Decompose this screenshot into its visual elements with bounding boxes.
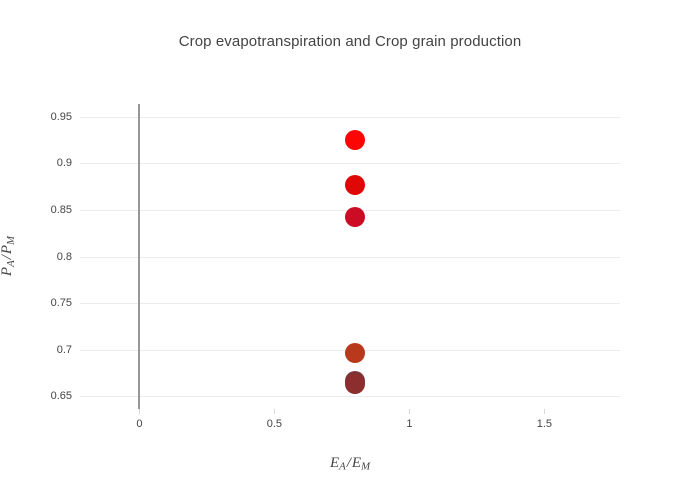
y-axis-title: PA/PM (0, 236, 17, 276)
x-axis-tick-label: 0.5 (267, 418, 282, 430)
gridline-y (80, 396, 620, 397)
x-axis-title-base1: E (330, 455, 339, 471)
y-axis-tick-label: 0.75 (14, 297, 80, 309)
scatter-point[interactable] (345, 343, 365, 363)
y-axis-tick-label: 0.65 (14, 390, 80, 402)
gridline-y (80, 303, 620, 304)
zero-line-vertical (138, 104, 140, 409)
x-axis-tick-mark (274, 409, 275, 414)
y-axis-title-slash: / (0, 254, 15, 260)
x-axis-title-base2: E (352, 455, 361, 471)
y-axis-title-sub1: A (5, 260, 17, 267)
scatter-point[interactable] (345, 175, 365, 195)
x-axis-tick-label: 1 (406, 418, 412, 430)
y-axis-tick-label: 0.7 (14, 344, 80, 356)
x-axis-tick-mark (544, 409, 545, 414)
plot-area (80, 104, 620, 409)
gridline-y (80, 257, 620, 258)
y-axis-tick-label: 0.85 (14, 204, 80, 216)
x-axis-ticks: 00.511.5 (80, 409, 620, 439)
y-axis-tick-label: 0.8 (14, 251, 80, 263)
y-axis-title-base2: P (0, 245, 15, 254)
gridline-y (80, 117, 620, 118)
y-axis-title-sub2: M (5, 236, 17, 245)
scatter-point[interactable] (345, 207, 365, 227)
y-axis-tick-label: 0.95 (14, 111, 80, 123)
x-axis-tick-mark (409, 409, 410, 414)
gridline-y (80, 163, 620, 164)
x-axis-tick-label: 0 (136, 418, 142, 430)
page-title: Crop evapotranspiration and Crop grain p… (0, 33, 700, 50)
chart-figure: Crop evapotranspiration and Crop grain p… (0, 0, 700, 500)
scatter-point[interactable] (345, 374, 365, 394)
x-axis-title: EA/EM (0, 455, 700, 473)
x-axis-tick-label: 1.5 (537, 418, 552, 430)
y-axis-ticks: 0.650.70.750.80.850.90.95 (6, 104, 80, 409)
y-axis-title-base1: P (0, 267, 15, 276)
x-axis-tick-mark (139, 409, 140, 414)
x-axis-title-sub2: M (361, 461, 370, 473)
x-axis-title-sub1: A (339, 461, 346, 473)
scatter-point[interactable] (345, 130, 365, 150)
y-axis-tick-label: 0.9 (14, 157, 80, 169)
